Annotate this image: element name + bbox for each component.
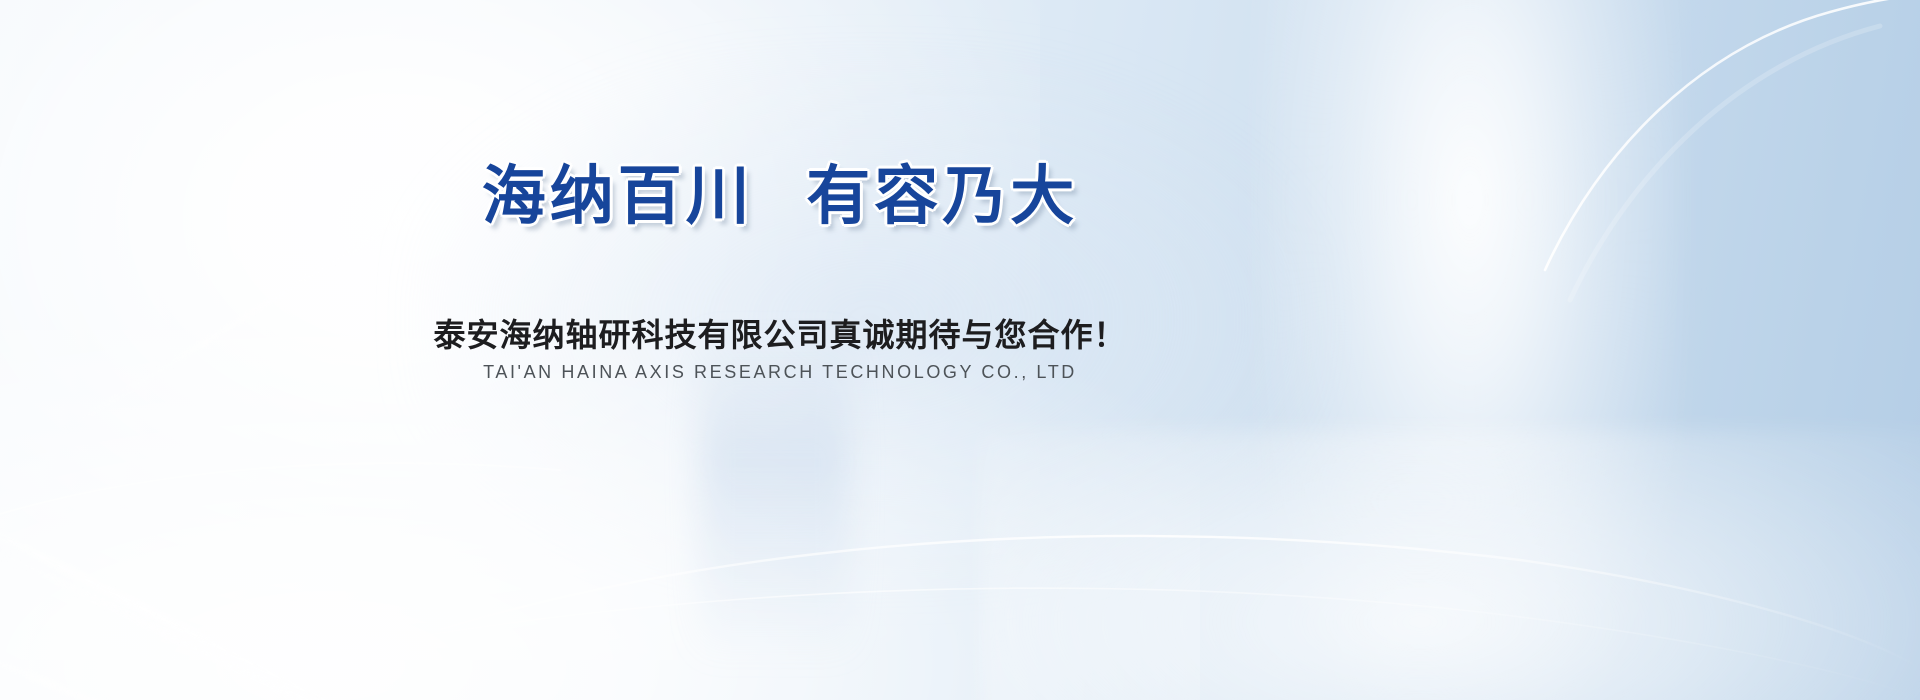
- hero-banner: 海纳百川 有容乃大 泰安海纳轴研科技有限公司真诚期待与您合作！ TAI'AN H…: [0, 0, 1920, 700]
- page-title: 海纳百川 有容乃大: [0, 158, 1560, 236]
- subtitle-english: TAI'AN HAINA AXIS RESEARCH TECHNOLOGY CO…: [0, 362, 1560, 383]
- subtitle-chinese: 泰安海纳轴研科技有限公司真诚期待与您合作！: [0, 310, 1560, 356]
- banner-content: 海纳百川 有容乃大 泰安海纳轴研科技有限公司真诚期待与您合作！ TAI'AN H…: [0, 0, 1920, 700]
